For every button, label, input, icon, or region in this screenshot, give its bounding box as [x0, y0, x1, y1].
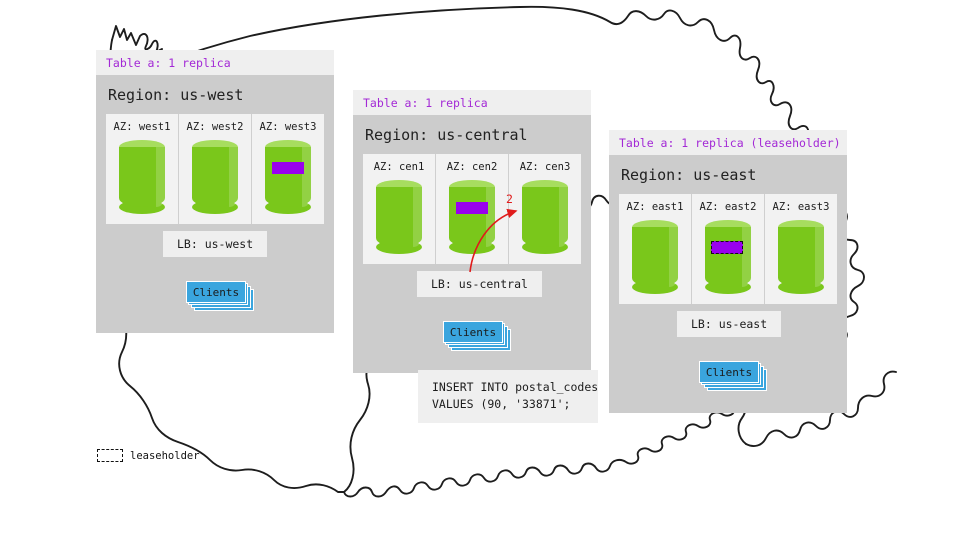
- node-cylinder-west1[interactable]: [119, 140, 165, 214]
- az-label-west1: AZ: west1: [114, 121, 171, 133]
- az-cell-cen1[interactable]: AZ: cen1: [363, 154, 436, 264]
- arrow-step-label-2: 2: [506, 192, 513, 206]
- az-label-west2: AZ: west2: [187, 121, 244, 133]
- leaseholder-swatch-icon: [97, 449, 123, 462]
- az-label-east1: AZ: east1: [627, 201, 684, 213]
- cylinder-body-icon: [192, 147, 238, 207]
- cylinder-body-icon: [119, 147, 165, 207]
- leaseholder-replica-marker-east2: [711, 241, 743, 254]
- region-header-us-east: Table a: 1 replica (leaseholder): [609, 130, 847, 155]
- node-cylinder-east1[interactable]: [632, 220, 678, 294]
- clients-button-label-us-east: Clients: [699, 361, 759, 383]
- node-cylinder-east2[interactable]: [705, 220, 751, 294]
- clients-button-us-west[interactable]: Clients: [186, 281, 248, 305]
- node-cylinder-west3[interactable]: [265, 140, 311, 214]
- az-cell-east3[interactable]: AZ: east3: [765, 194, 837, 304]
- load-balancer-us-west[interactable]: LB: us-west: [163, 231, 267, 257]
- legend-label-leaseholder: leaseholder: [130, 450, 200, 462]
- region-title-us-central: Region: us-central: [353, 115, 591, 154]
- az-label-east2: AZ: east2: [700, 201, 757, 213]
- node-cylinder-east3[interactable]: [778, 220, 824, 294]
- cylinder-body-icon: [778, 227, 824, 287]
- cylinder-body-icon: [449, 187, 495, 247]
- region-header-us-west: Table a: 1 replica: [96, 50, 334, 75]
- region-title-us-east: Region: us-east: [609, 155, 847, 194]
- cylinder-body-icon: [522, 187, 568, 247]
- az-row-us-central: AZ: cen1 AZ: cen2: [363, 154, 581, 264]
- az-row-us-west: AZ: west1 AZ: west2 AZ: [106, 114, 324, 224]
- az-label-east3: AZ: east3: [773, 201, 830, 213]
- replica-marker-west3: [272, 162, 304, 174]
- az-label-west3: AZ: west3: [260, 121, 317, 133]
- region-title-us-west: Region: us-west: [96, 75, 334, 114]
- diagram-canvas: Table a: 1 replica Region: us-west AZ: w…: [0, 0, 960, 540]
- legend: leaseholder: [97, 449, 200, 462]
- load-balancer-us-central[interactable]: LB: us-central: [417, 271, 542, 297]
- clients-button-label-us-west: Clients: [186, 281, 246, 303]
- az-label-cen1: AZ: cen1: [374, 161, 425, 173]
- cylinder-body-icon: [376, 187, 422, 247]
- az-row-us-east: AZ: east1 AZ: east2: [619, 194, 837, 304]
- clients-button-label-us-central: Clients: [443, 321, 503, 343]
- az-label-cen3: AZ: cen3: [520, 161, 571, 173]
- az-cell-west1[interactable]: AZ: west1: [106, 114, 179, 224]
- az-cell-east2[interactable]: AZ: east2: [692, 194, 765, 304]
- az-cell-west3[interactable]: AZ: west3: [252, 114, 324, 224]
- node-cylinder-cen3[interactable]: [522, 180, 568, 254]
- cylinder-body-icon: [705, 227, 751, 287]
- sql-statement-box: INSERT INTO postal_codes VALUES (90, '33…: [418, 370, 598, 423]
- load-balancer-us-east[interactable]: LB: us-east: [677, 311, 781, 337]
- az-cell-east1[interactable]: AZ: east1: [619, 194, 692, 304]
- az-cell-cen2[interactable]: AZ: cen2: [436, 154, 509, 264]
- node-cylinder-cen1[interactable]: [376, 180, 422, 254]
- az-label-cen2: AZ: cen2: [447, 161, 498, 173]
- node-cylinder-west2[interactable]: [192, 140, 238, 214]
- cylinder-body-icon: [265, 147, 311, 207]
- cylinder-body-icon: [632, 227, 678, 287]
- clients-button-us-central[interactable]: Clients: [443, 321, 505, 345]
- region-header-us-central: Table a: 1 replica: [353, 90, 591, 115]
- node-cylinder-cen2[interactable]: [449, 180, 495, 254]
- clients-button-us-east[interactable]: Clients: [699, 361, 761, 385]
- az-cell-cen3[interactable]: AZ: cen3: [509, 154, 581, 264]
- replica-marker-cen2: [456, 202, 488, 214]
- az-cell-west2[interactable]: AZ: west2: [179, 114, 252, 224]
